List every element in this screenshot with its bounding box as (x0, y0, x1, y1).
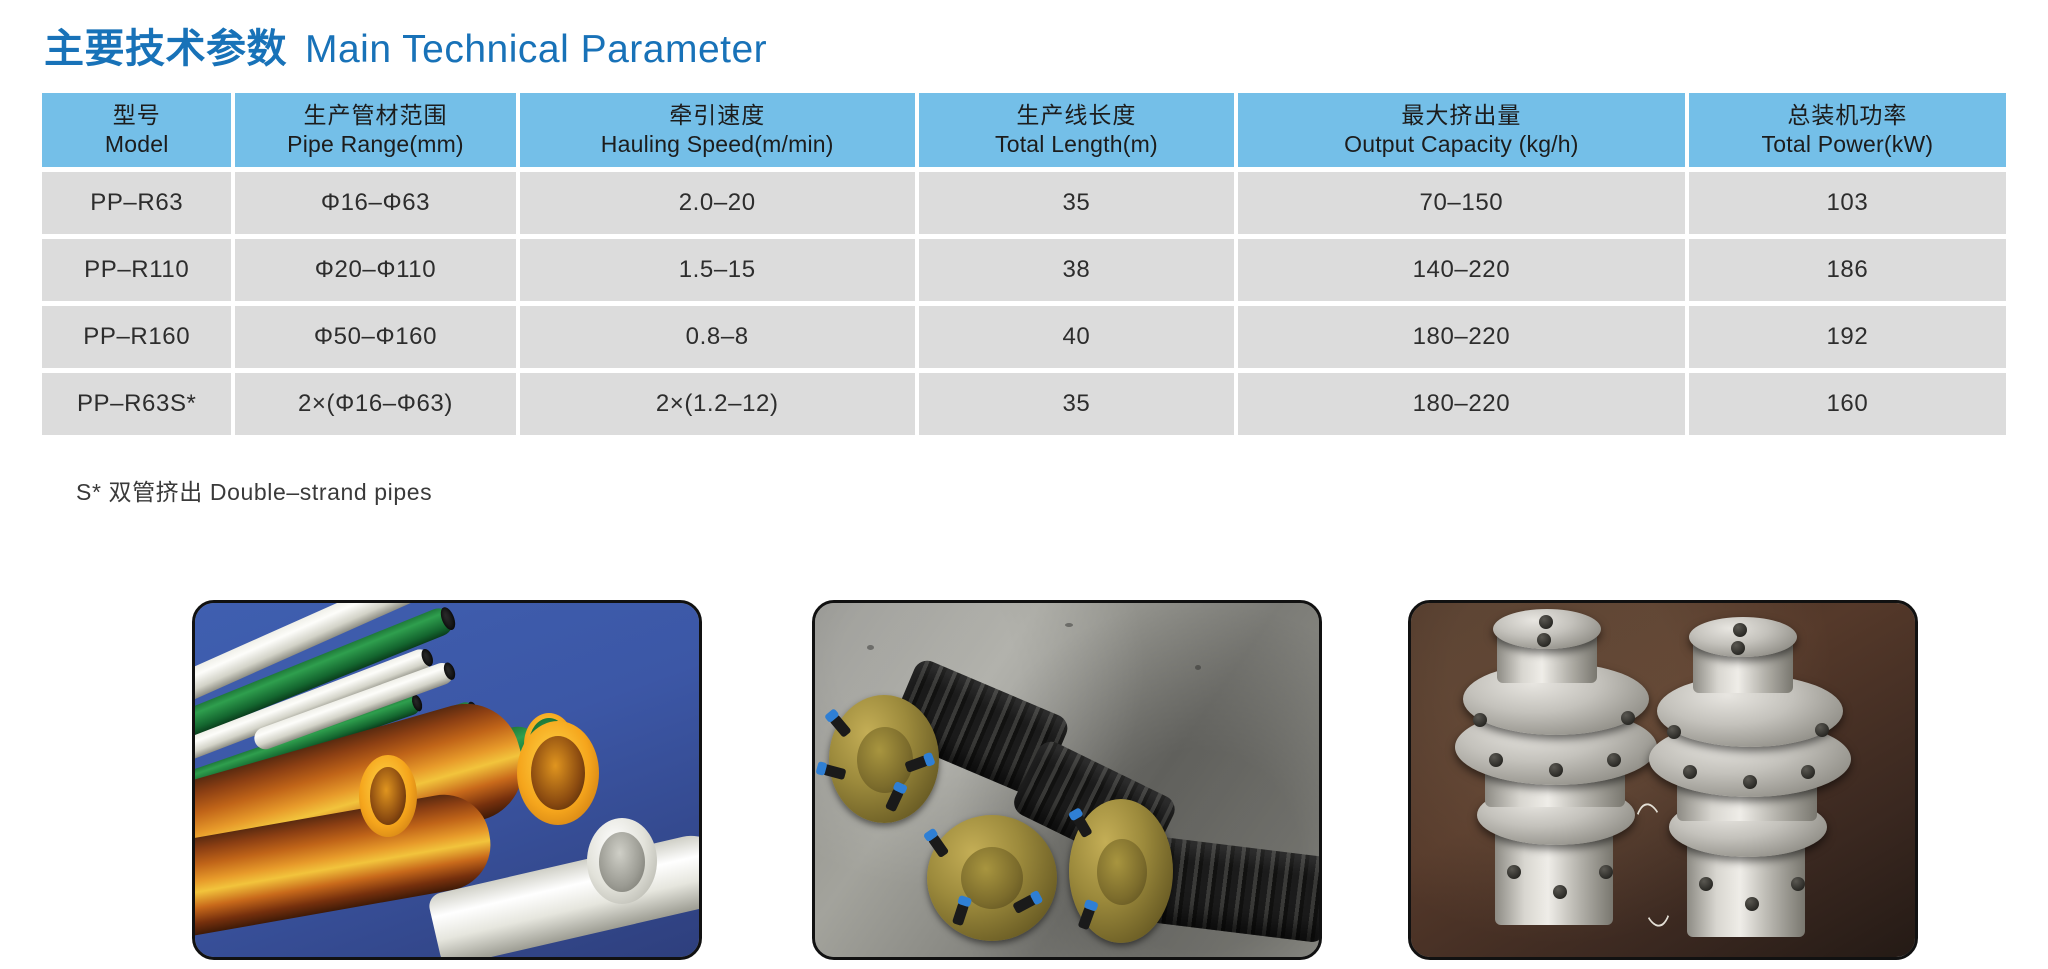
column-header-hauling-speed: 牵引速度 Hauling Speed(m/min) (520, 93, 915, 167)
column-header-model: 型号 Model (42, 93, 231, 167)
die-bolt (1549, 763, 1563, 777)
cell-total-length: 40 (919, 306, 1234, 368)
die-bolt (1683, 765, 1697, 779)
column-header-total-length: 生产线长度 Total Length(m) (919, 93, 1234, 167)
cell-model: PP–R63S* (42, 373, 231, 435)
die-bolt (1621, 711, 1635, 725)
die-bolt (1667, 725, 1681, 739)
column-header-total-length-en: Total Length(m) (919, 130, 1234, 159)
die-bolt (1699, 877, 1713, 891)
twin-extrusion-dies-image (1411, 603, 1915, 957)
pipe-white-large-bore (599, 832, 645, 892)
cell-model: PP–R110 (42, 239, 231, 301)
table-row: PP–R110 Φ20–Φ110 1.5–15 38 140–220 186 (42, 239, 2006, 301)
column-header-pipe-range-cn: 生产管材范围 (235, 101, 515, 130)
die-bolt (1489, 753, 1503, 767)
die-bolt (1539, 615, 1553, 629)
cell-total-power: 160 (1689, 373, 2006, 435)
vacuum-calibrators-image (815, 603, 1319, 957)
pipe-hot-bore-lower (370, 767, 406, 825)
ppr-pipes-image (195, 603, 699, 957)
cell-total-power: 103 (1689, 172, 2006, 234)
die-bolt (1733, 623, 1747, 637)
column-header-output-capacity-en: Output Capacity (kg/h) (1238, 130, 1685, 159)
table-row: PP–R160 Φ50–Φ160 0.8–8 40 180–220 192 (42, 306, 2006, 368)
column-header-hauling-speed-cn: 牵引速度 (520, 101, 915, 130)
column-header-total-length-cn: 生产线长度 (919, 101, 1234, 130)
calibrator-hub (1097, 839, 1147, 905)
ppr-pipes-photo (192, 600, 702, 960)
page-title: 主要技术参数 Main Technical Parameter (44, 16, 767, 74)
column-header-model-cn: 型号 (42, 101, 231, 130)
cell-model: PP–R63 (42, 172, 231, 234)
column-header-output-capacity: 最大挤出量 Output Capacity (kg/h) (1238, 93, 1685, 167)
die-bolt (1791, 877, 1805, 891)
column-header-hauling-speed-en: Hauling Speed(m/min) (520, 130, 915, 159)
die-bolt (1745, 897, 1759, 911)
cell-total-power: 186 (1689, 239, 2006, 301)
cell-hauling-speed: 2×(1.2–12) (520, 373, 915, 435)
die-bolt (1553, 885, 1567, 899)
table-row: PP–R63S* 2×(Φ16–Φ63) 2×(1.2–12) 35 180–2… (42, 373, 2006, 435)
die-bolt (1473, 713, 1487, 727)
cell-output-capacity: 70–150 (1238, 172, 1685, 234)
die-bolt (1801, 765, 1815, 779)
cell-pipe-range: 2×(Φ16–Φ63) (235, 373, 515, 435)
column-header-total-power-cn: 总装机功率 (1689, 101, 2006, 130)
column-header-model-en: Model (42, 130, 231, 159)
cell-pipe-range: Φ50–Φ160 (235, 306, 515, 368)
column-header-total-power-en: Total Power(kW) (1689, 130, 2006, 159)
calibrator-hub (857, 727, 913, 793)
twin-extrusion-dies-photo (1408, 600, 1918, 960)
die-bolt (1537, 633, 1551, 647)
cell-total-length: 35 (919, 172, 1234, 234)
table-row: PP–R63 Φ16–Φ63 2.0–20 35 70–150 103 (42, 172, 2006, 234)
cell-hauling-speed: 1.5–15 (520, 239, 915, 301)
product-photo-row (0, 600, 2048, 960)
cell-pipe-range: Φ20–Φ110 (235, 239, 515, 301)
vacuum-calibrators-photo (812, 600, 1322, 960)
cell-model: PP–R160 (42, 306, 231, 368)
die-bolt (1607, 753, 1621, 767)
column-header-pipe-range: 生产管材范围 Pipe Range(mm) (235, 93, 515, 167)
page-title-cn: 主要技术参数 (44, 16, 287, 74)
page-title-en: Main Technical Parameter (305, 28, 767, 72)
die-bolt (1507, 865, 1521, 879)
die-bolt (1731, 641, 1745, 655)
die-bolt (1815, 723, 1829, 737)
cell-output-capacity: 180–220 (1238, 306, 1685, 368)
column-header-total-power: 总装机功率 Total Power(kW) (1689, 93, 2006, 167)
table-footnote: S* 双管挤出 Double–strand pipes (76, 473, 432, 507)
cell-output-capacity: 140–220 (1238, 239, 1685, 301)
cell-hauling-speed: 2.0–20 (520, 172, 915, 234)
cell-total-power: 192 (1689, 306, 2006, 368)
die-bolt (1743, 775, 1757, 789)
cell-total-length: 35 (919, 373, 1234, 435)
column-header-pipe-range-en: Pipe Range(mm) (235, 130, 515, 159)
pipe-hot-bore-upper (531, 736, 585, 810)
table-header-row: 型号 Model 生产管材范围 Pipe Range(mm) 牵引速度 Haul… (42, 93, 2006, 167)
main-technical-parameter-table: 型号 Model 生产管材范围 Pipe Range(mm) 牵引速度 Haul… (38, 88, 2010, 440)
cell-hauling-speed: 0.8–8 (520, 306, 915, 368)
cell-total-length: 38 (919, 239, 1234, 301)
die-bolt (1599, 865, 1613, 879)
cell-output-capacity: 180–220 (1238, 373, 1685, 435)
column-header-output-capacity-cn: 最大挤出量 (1238, 101, 1685, 130)
cell-pipe-range: Φ16–Φ63 (235, 172, 515, 234)
